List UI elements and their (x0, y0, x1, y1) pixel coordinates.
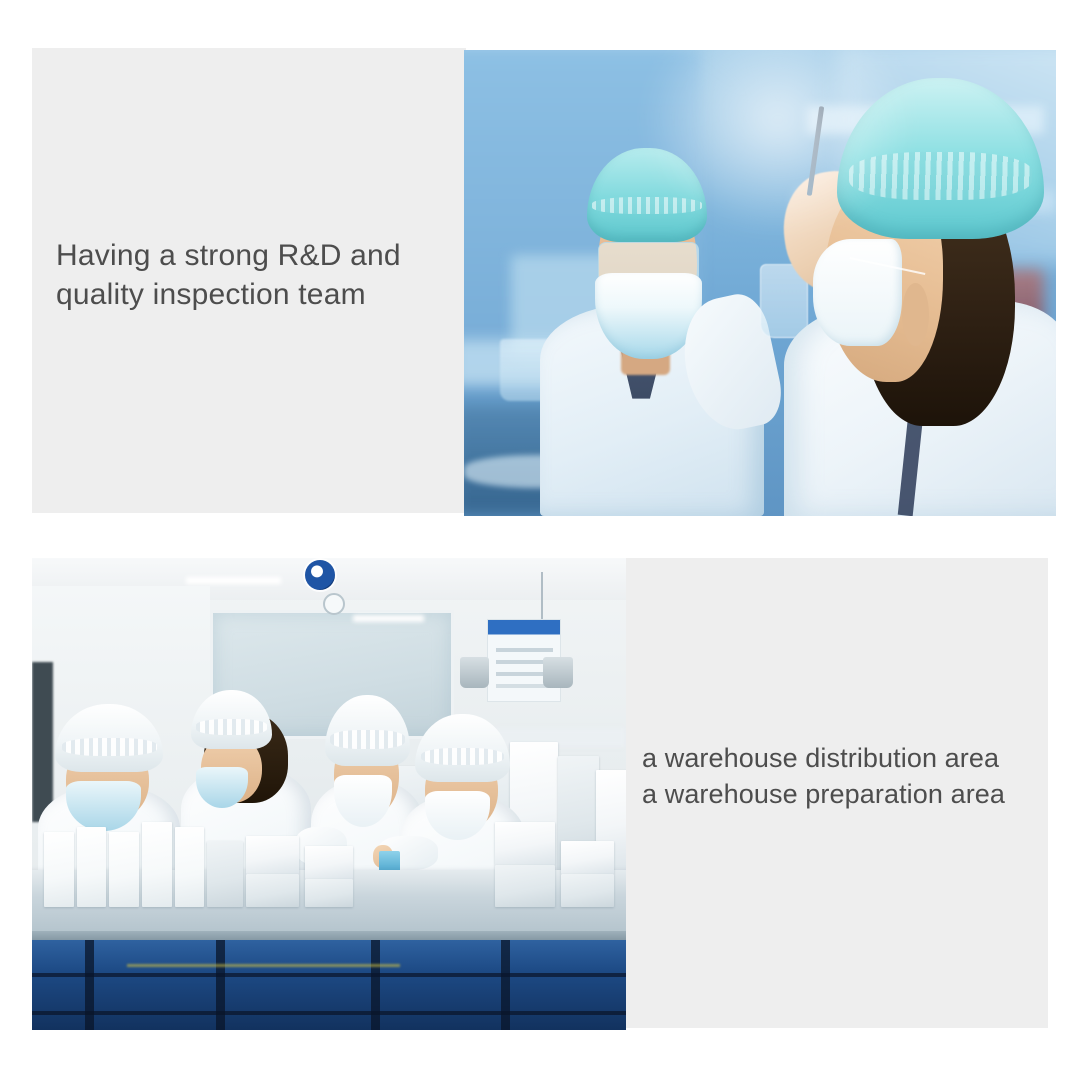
carton-front-2 (77, 827, 107, 907)
carton-flat-2 (246, 874, 299, 907)
lab-worker-profile-ear (902, 283, 929, 346)
carton-front-4 (142, 822, 172, 907)
floor-marking-line (127, 964, 400, 967)
carton-right-3 (561, 841, 614, 874)
table-base-crossbar-2 (32, 1011, 626, 1015)
ceiling-light-1 (186, 577, 281, 585)
worker-far-right-hairnet (415, 714, 510, 782)
worker-right-hairnet (325, 695, 411, 766)
carton-flat-1 (246, 836, 299, 874)
section-warehouse-areas: a warehouse distribution area a warehous… (32, 558, 1048, 1030)
caption-text-warehouse-areas: a warehouse distribution area a warehous… (642, 740, 1046, 812)
lab-worker-profile-facemask (813, 239, 902, 346)
steel-pot-2 (543, 657, 573, 688)
table-leg-1 (85, 940, 94, 1030)
carton-front-5 (175, 827, 205, 907)
carton-flat-3 (305, 846, 353, 879)
ceiling-light-2 (353, 615, 424, 623)
worker-left-hairnet (55, 704, 163, 772)
caption-panel-research-quality: Having a strong R&D and quality inspecti… (32, 48, 466, 513)
collage-page: Having a strong R&D and quality inspecti… (0, 0, 1080, 1080)
worker-center-hairnet (191, 690, 272, 749)
carton-flat-4 (305, 879, 353, 907)
carton-right-2 (495, 865, 554, 907)
lab-quality-inspection-photo (464, 50, 1056, 516)
carton-front-6 (207, 841, 243, 907)
lab-light-glare (642, 50, 914, 236)
blue-table-base (32, 940, 626, 1030)
warehouse-packing-photo (32, 558, 626, 1030)
table-base-crossbar-1 (32, 973, 626, 977)
carton-front-3 (109, 832, 139, 908)
steel-pot-1 (460, 657, 490, 688)
carton-right-1 (495, 822, 554, 864)
carton-right-4 (561, 874, 614, 907)
carton-front-1 (44, 832, 74, 908)
table-leg-2 (216, 940, 225, 1030)
caption-panel-warehouse-areas: a warehouse distribution area a warehous… (624, 558, 1048, 1028)
table-leg-3 (371, 940, 380, 1030)
caption-text-research-quality: Having a strong R&D and quality inspecti… (56, 236, 456, 314)
section-research-quality: Having a strong R&D and quality inspecti… (32, 48, 1056, 516)
table-leg-4 (501, 940, 510, 1030)
